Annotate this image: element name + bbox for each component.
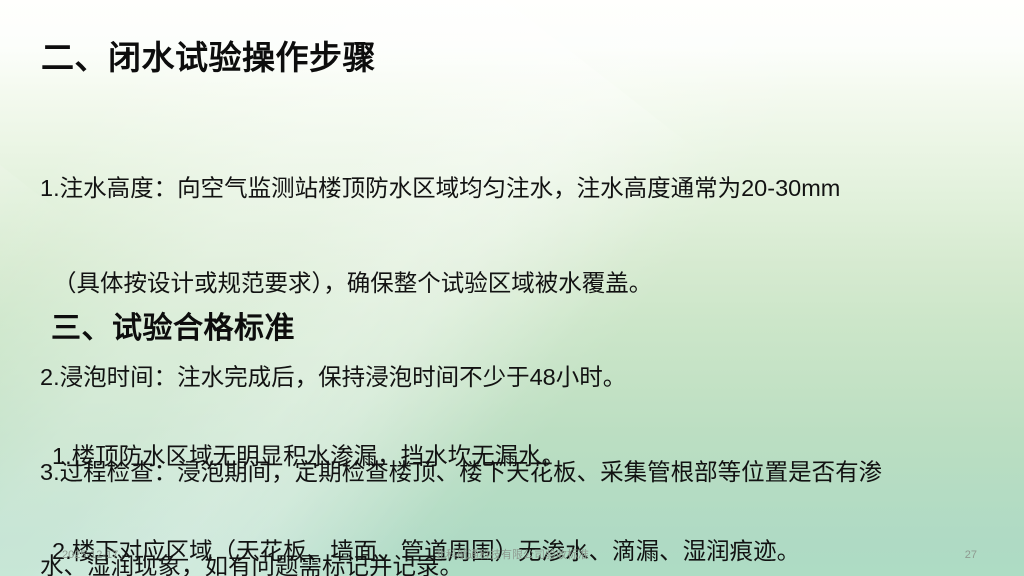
slide-footer: 2025-12-17 北科航通科技有限公司验收标准 27 — [0, 536, 1024, 576]
body-line: （具体按设计或规范要求），确保整个试验区域被水覆盖。 — [40, 268, 1000, 300]
body-line: 1.楼顶防水区域无明显积水渗漏，挡水坎无漏水。 — [52, 441, 1002, 473]
slide-content: 二、闭水试验操作步骤 1.注水高度：向空气监测站楼顶防水区域均匀注水，注水高度通… — [0, 0, 1024, 576]
section-heading-steps: 二、闭水试验操作步骤 — [41, 38, 376, 78]
footer-title: 北科航通科技有限公司验收标准 — [0, 548, 1024, 562]
section-heading-criteria: 三、试验合格标准 — [51, 310, 295, 348]
body-line: 1.注水高度：向空气监测站楼顶防水区域均匀注水，注水高度通常为20-30mm — [40, 173, 1000, 205]
presentation-slide: 二、闭水试验操作步骤 1.注水高度：向空气监测站楼顶防水区域均匀注水，注水高度通… — [0, 0, 1024, 576]
footer-page-number: 27 — [965, 548, 977, 562]
